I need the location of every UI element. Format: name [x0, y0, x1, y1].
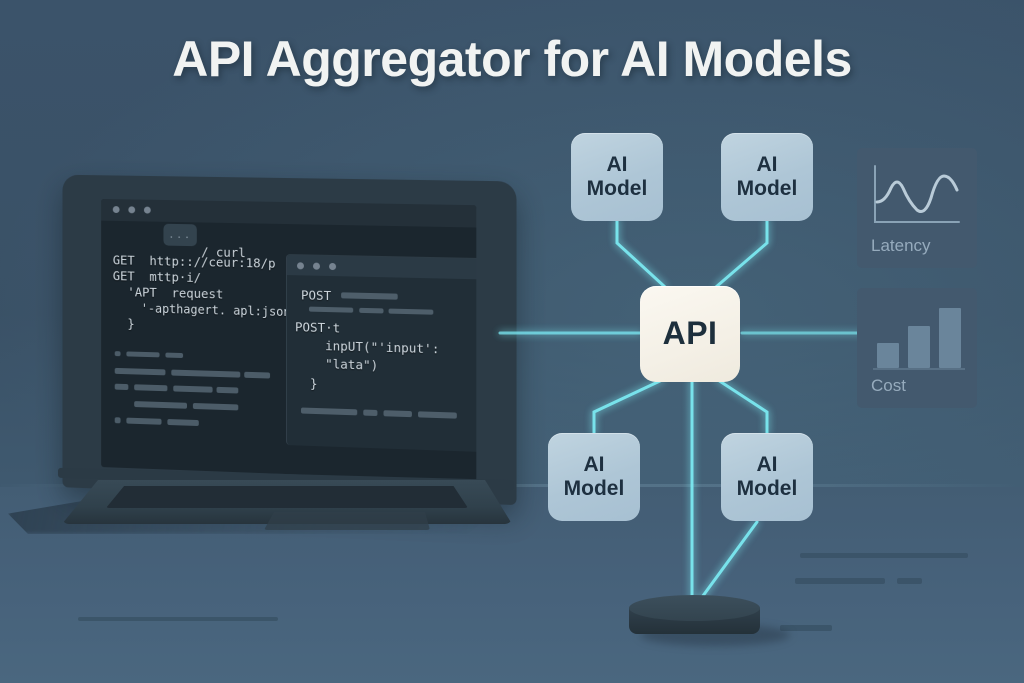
deco-line-right-3: [897, 578, 922, 584]
code-placeholder-bar: [173, 386, 212, 393]
code-placeholder-bar: [341, 292, 398, 299]
code-placeholder-bar: [115, 368, 166, 375]
api-hub-label: API: [663, 316, 718, 352]
code-placeholder-bar: [217, 387, 239, 394]
cost-bar-2: [908, 326, 930, 368]
code-placeholder-bar: [309, 307, 353, 313]
code-line: inpUT("'input':: [295, 337, 439, 357]
deco-line-right-2: [795, 578, 885, 584]
code-placeholder-bar: [115, 417, 121, 423]
window-dot-close-icon: [297, 262, 304, 269]
code-placeholder-bar: [115, 351, 121, 356]
code-placeholder-bar: [359, 308, 383, 314]
code-placeholder-bar: [171, 370, 240, 378]
ai-model-label-line1: AI: [757, 153, 778, 177]
deco-line-right-1: [800, 553, 968, 558]
code-placeholder-bar: [244, 372, 270, 379]
ai-model-label-line2: Model: [737, 477, 798, 501]
illustration-canvas: API Aggregator for AI Models / curl ...: [0, 0, 1024, 683]
ai-model-label-line1: AI: [607, 153, 628, 177]
left-code-panel: / curl ... GET http:://ceur:18/p GET mtt…: [113, 227, 280, 230]
api-hub-node[interactable]: API: [640, 286, 740, 382]
subwindow-dots: [297, 262, 336, 270]
code-placeholder-bar: [389, 309, 434, 315]
ai-model-node-top-left[interactable]: AI Model: [571, 133, 663, 221]
code-placeholder-bar: [126, 351, 159, 357]
ai-model-label-line2: Model: [564, 477, 625, 501]
cost-bar-1: [877, 343, 899, 368]
puck-top-surface: [629, 595, 760, 621]
latency-card[interactable]: Latency: [857, 148, 977, 268]
deco-line-right-4: [780, 625, 832, 631]
ai-model-node-top-right[interactable]: AI Model: [721, 133, 813, 221]
laptop-trackpad: [264, 512, 430, 530]
right-code-panel: POST POST·t inpUT("'input': "lata") }: [286, 254, 476, 452]
code-placeholder-bar: [193, 403, 238, 410]
code-placeholder-bar: [301, 408, 357, 416]
code-placeholder-bar: [115, 384, 129, 390]
code-placeholder-bar: [418, 411, 457, 418]
code-line: POST·t: [295, 319, 340, 336]
laptop-keyboard: [106, 486, 468, 508]
window-dot-maximize-icon: [144, 207, 151, 214]
screen-titlebar: [101, 199, 476, 228]
latency-card-label: Latency: [871, 236, 931, 256]
ai-model-node-bottom-right[interactable]: AI Model: [721, 433, 813, 521]
code-placeholder-bar: [167, 419, 198, 426]
ai-model-label-line2: Model: [737, 177, 798, 201]
laptop-screen: / curl ... GET http:://ceur:18/p GET mtt…: [101, 199, 476, 481]
code-placeholder-bar: [126, 418, 161, 425]
line-chart-icon: [871, 164, 963, 230]
code-placeholder-bar: [134, 384, 167, 391]
ai-model-label-line1: AI: [584, 453, 605, 477]
code-placeholder-bar: [384, 410, 412, 417]
window-dots: [113, 206, 151, 214]
window-dot-close-icon: [113, 206, 120, 213]
bar-chart-icon: [873, 302, 965, 368]
laptop-illustration: / curl ... GET http:://ceur:18/p GET mtt…: [52, 178, 552, 538]
code-line: }: [295, 375, 318, 392]
code-placeholder-bar: [363, 410, 377, 417]
ai-model-node-bottom-left[interactable]: AI Model: [548, 433, 640, 521]
cost-bar-3: [939, 308, 961, 368]
code-line: }: [113, 316, 135, 332]
code-line: POST: [301, 287, 331, 304]
editor-tag-chip[interactable]: ...: [163, 224, 196, 246]
window-dot-minimize-icon: [313, 263, 320, 270]
page-title: API Aggregator for AI Models: [0, 30, 1024, 88]
deco-line-left: [78, 617, 278, 621]
cost-chart-axis: [873, 368, 965, 370]
code-placeholder-bar: [134, 401, 187, 409]
window-dot-maximize-icon: [329, 263, 336, 270]
code-placeholder-bar: [165, 353, 183, 358]
code-line: '-apthagert. apl:json": [113, 300, 298, 321]
cost-card-label: Cost: [871, 376, 906, 396]
window-dot-minimize-icon: [128, 206, 135, 213]
ai-model-label-line1: AI: [757, 453, 778, 477]
code-line: "lata"): [295, 355, 378, 373]
ai-model-label-line2: Model: [587, 177, 648, 201]
cost-card[interactable]: Cost: [857, 288, 977, 408]
laptop-lid: / curl ... GET http:://ceur:18/p GET mtt…: [62, 175, 516, 505]
